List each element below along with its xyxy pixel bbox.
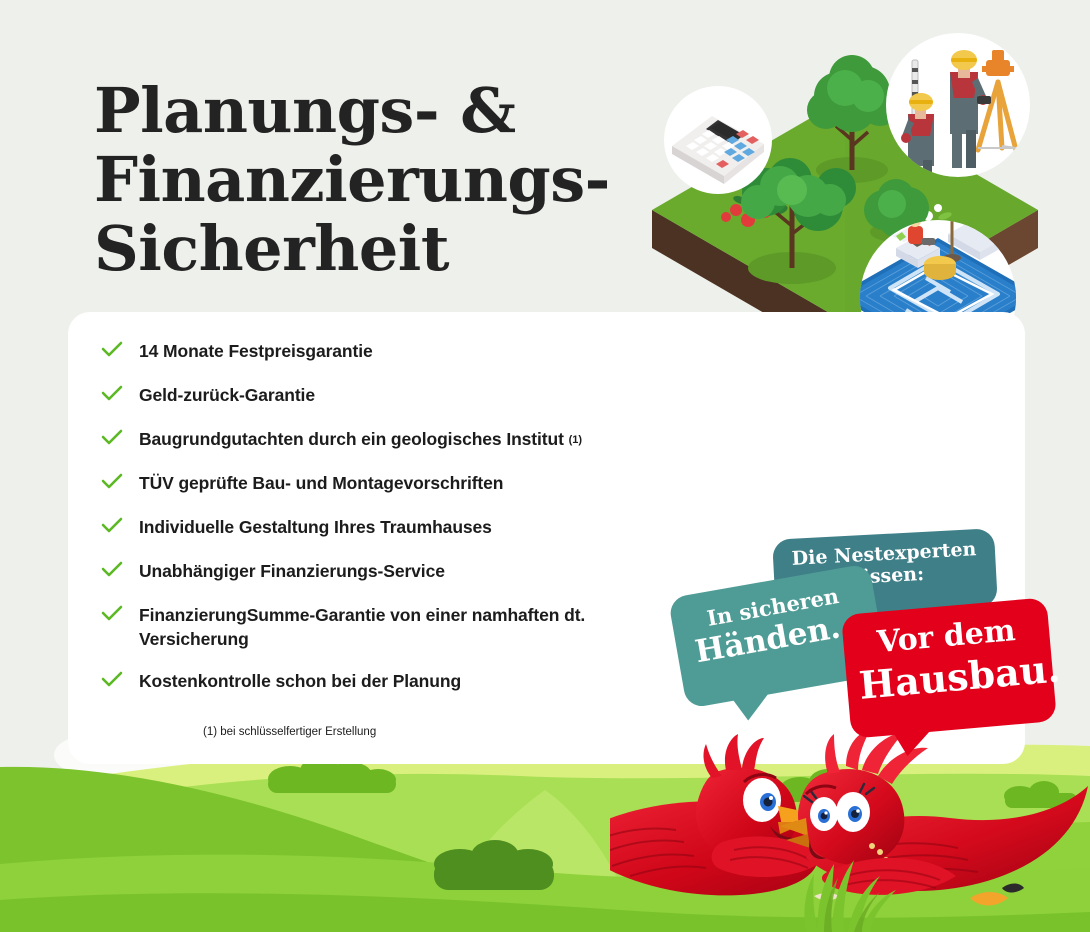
list-item-label: Unabhängiger Finanzierungs-Service xyxy=(139,558,445,584)
speech-bubble-hausbau: Vor dem Hausbau. xyxy=(841,597,1057,738)
check-icon xyxy=(101,473,131,491)
check-icon xyxy=(101,561,131,579)
list-item: 14 Monate Festpreisgarantie xyxy=(101,338,981,382)
bird-left xyxy=(610,734,824,895)
list-item-label: TÜV geprüfte Bau- und Montagevorschrifte… xyxy=(139,470,503,496)
pouf-icon xyxy=(924,256,956,280)
list-item: Baugrundgutachten durch ein geologisches… xyxy=(101,426,981,470)
list-item-label: Kostenkontrolle schon bei der Planung xyxy=(139,668,461,694)
check-icon xyxy=(101,671,131,689)
footnote-marker: (1) xyxy=(569,434,582,446)
bird-right xyxy=(780,730,1088,906)
check-icon xyxy=(101,429,131,447)
list-item-label: Individuelle Gestaltung Ihres Traumhause… xyxy=(139,514,492,540)
list-item: Geld-zurück-Garantie xyxy=(101,382,981,426)
list-item-label: 14 Monate Festpreisgarantie xyxy=(139,338,373,364)
page-title: Planungs- & Finanzierungs- Sicherheit xyxy=(94,76,694,284)
check-icon xyxy=(101,341,131,359)
infographic-stage: Planungs- & Finanzierungs- Sicherheit xyxy=(0,0,1090,932)
check-icon xyxy=(101,385,131,403)
list-item-label: FinanzierungSumme-Garantie von einer nam… xyxy=(139,602,639,651)
bubble-tail xyxy=(891,725,937,757)
list-item: TÜV geprüfte Bau- und Montagevorschrifte… xyxy=(101,470,981,514)
list-item-label: Geld-zurück-Garantie xyxy=(139,382,315,408)
check-icon xyxy=(101,517,131,535)
bubble-tail xyxy=(730,688,778,723)
bird-characters xyxy=(610,730,1090,932)
list-item-label: Baugrundgutachten durch ein geologisches… xyxy=(139,426,582,452)
check-icon xyxy=(101,605,131,623)
footnote-text: (1) bei schlüsselfertiger Erstellung xyxy=(203,726,376,738)
calculator-inset xyxy=(664,86,772,194)
